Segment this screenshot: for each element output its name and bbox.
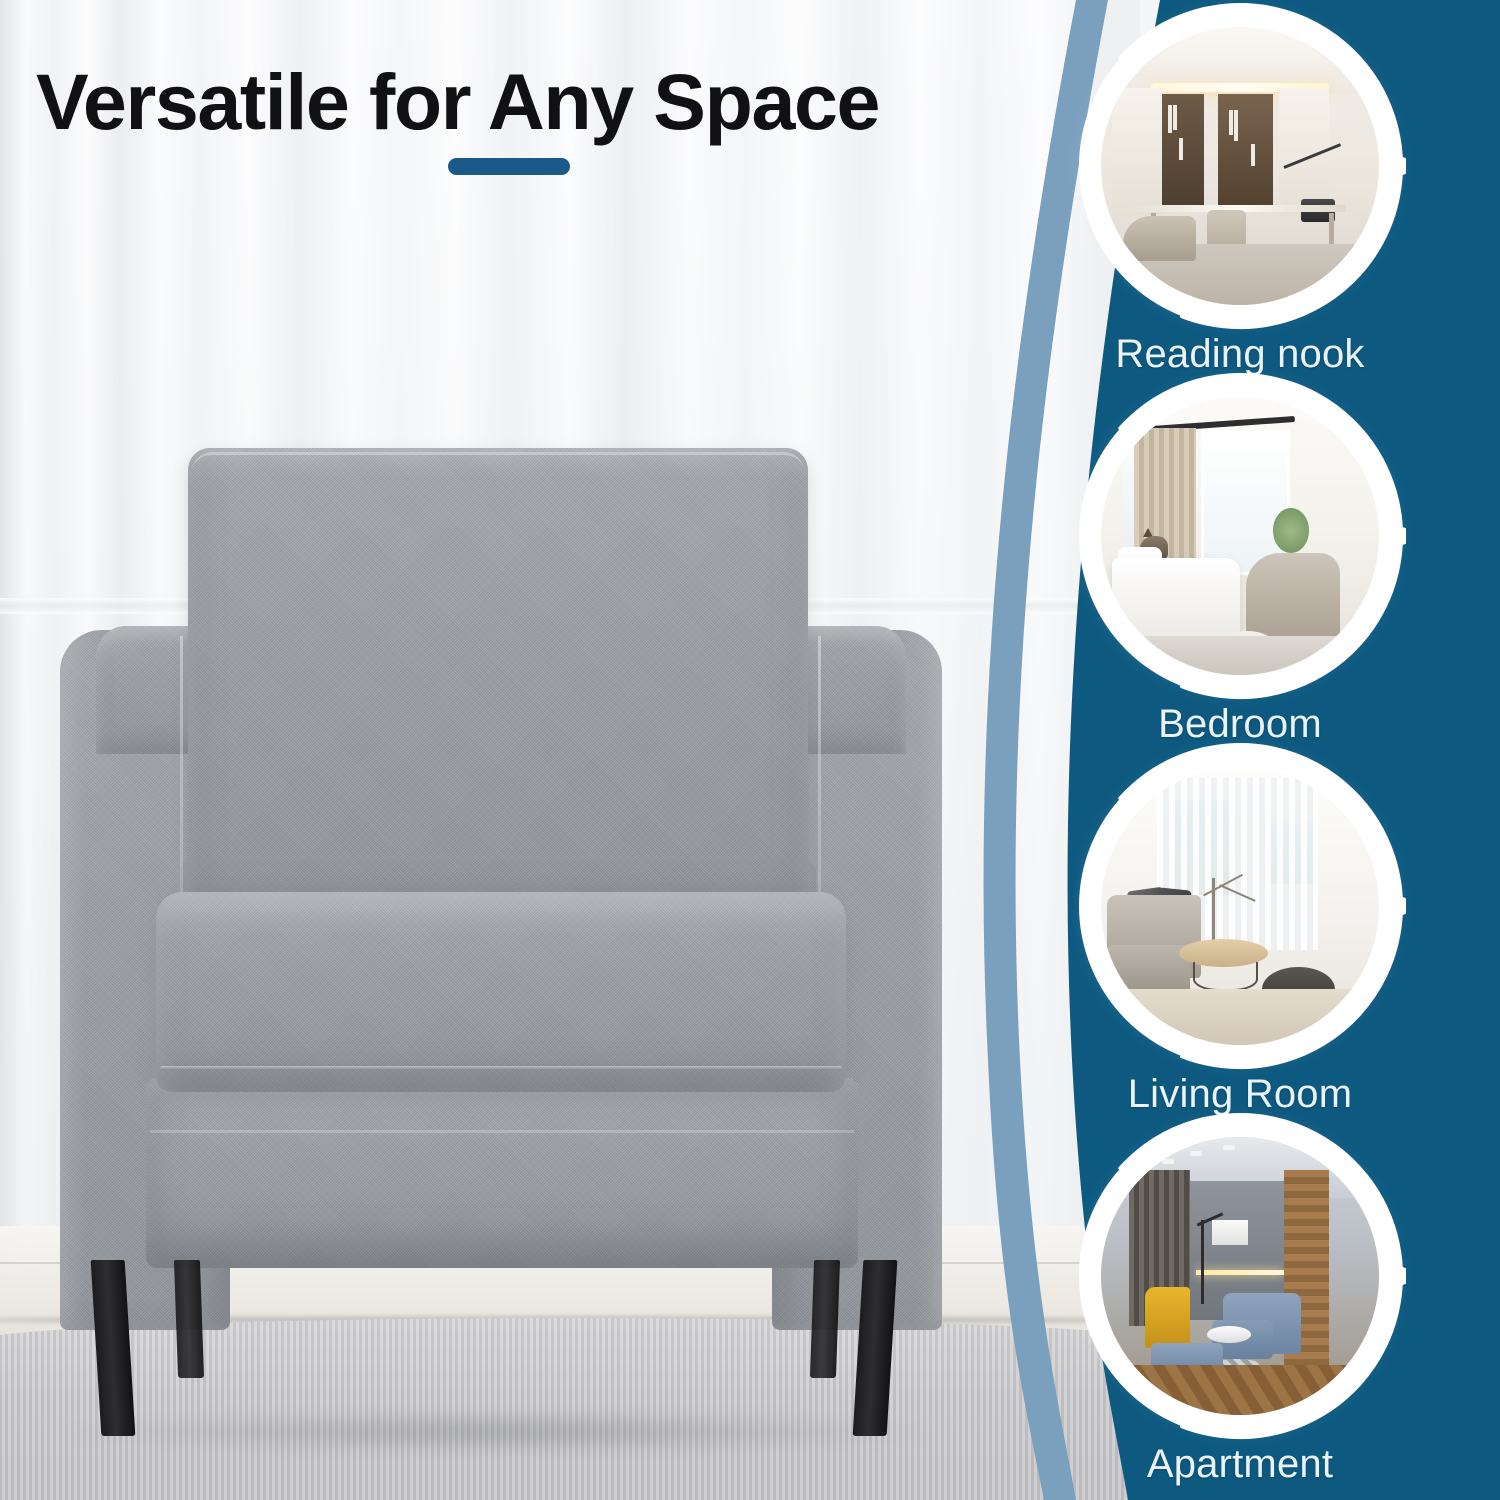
- chair-base-seam: [150, 1130, 854, 1133]
- product-feature-graphic: Versatile for Any Space: [0, 0, 1500, 1500]
- use-case-card-apartment[interactable]: Apartment: [980, 1126, 1500, 1487]
- chair-leg-back-right: [810, 1260, 840, 1378]
- use-case-card-reading-nook[interactable]: Reading nook: [980, 16, 1500, 377]
- thumbnail-wrapper: [1090, 386, 1390, 686]
- back-cushion-piping: [192, 452, 804, 485]
- arc-dot: [1392, 897, 1406, 915]
- use-case-label: Apartment: [980, 1442, 1500, 1487]
- scene-study: [1101, 27, 1379, 305]
- back-cushion: [188, 448, 808, 928]
- armchair: [60, 430, 960, 1450]
- thumbnail-wrapper: [1090, 16, 1390, 316]
- scene-living-room: [1101, 767, 1379, 1045]
- title-underline-accent: [448, 158, 570, 175]
- chair-leg-back-left: [174, 1260, 204, 1378]
- scene-apartment: [1101, 1137, 1379, 1415]
- arc-dot: [1392, 1267, 1406, 1285]
- seat-cushion: [156, 892, 846, 1092]
- chair-shadow: [70, 1410, 930, 1454]
- thumbnail-bedroom[interactable]: [1090, 386, 1390, 686]
- use-case-card-living-room[interactable]: Living Room: [980, 756, 1500, 1117]
- product-photo: [0, 0, 1140, 1500]
- thumbnail-reading-nook[interactable]: [1090, 16, 1390, 316]
- arc-dot: [1392, 157, 1406, 175]
- chair-base: [146, 1078, 858, 1268]
- use-case-card-list: Reading nook: [980, 0, 1500, 1500]
- page-title: Versatile for Any Space: [36, 62, 879, 143]
- scene-bedroom: [1101, 397, 1379, 675]
- use-case-card-bedroom[interactable]: Bedroom: [980, 386, 1500, 747]
- thumbnail-wrapper: [1090, 756, 1390, 1056]
- thumbnail-apartment[interactable]: [1090, 1126, 1390, 1426]
- use-case-panel: Reading nook: [980, 0, 1500, 1500]
- thumbnail-wrapper: [1090, 1126, 1390, 1426]
- arc-dot: [1392, 527, 1406, 545]
- seat-front-seam: [160, 1066, 842, 1070]
- thumbnail-living-room[interactable]: [1090, 756, 1390, 1056]
